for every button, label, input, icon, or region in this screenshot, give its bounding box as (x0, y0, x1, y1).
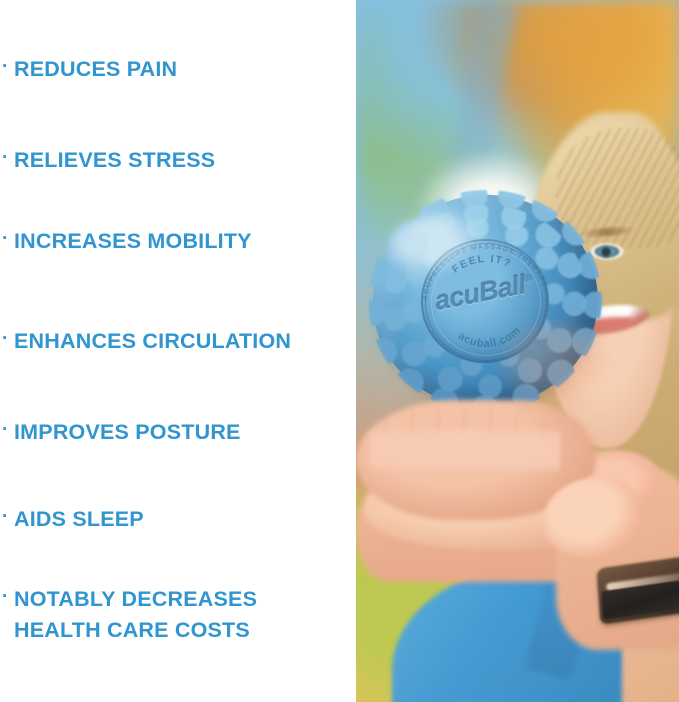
benefit-item-reduces-pain: · REDUCES PAIN (2, 54, 354, 85)
eye-pupil (600, 246, 612, 258)
benefits-list: · REDUCES PAIN · RELIEVES STRESS · INCRE… (0, 0, 356, 702)
benefit-label: RELIEVES STRESS (14, 145, 354, 176)
bullet-icon: · (2, 226, 14, 253)
bullet-icon: · (2, 417, 14, 444)
benefit-label: NOTABLY DECREASES HEALTH CARE COSTS (14, 584, 354, 645)
benefit-label: INCREASES MOBILITY (14, 226, 354, 257)
advertisement-page: · REDUCES PAIN · RELIEVES STRESS · INCRE… (0, 0, 679, 702)
benefit-item-enhances-circulation: · ENHANCES CIRCULATION (2, 326, 354, 357)
benefit-item-relieves-stress: · RELIEVES STRESS (2, 145, 354, 176)
acuball-product: ACUPRESSURE MASSAGE THERAPY FEEL IT? acu… (362, 184, 608, 421)
benefit-item-improves-posture: · IMPROVES POSTURE (2, 417, 354, 448)
bullet-icon: · (2, 145, 14, 172)
bullet-icon: · (2, 326, 14, 353)
bullet-icon: · (2, 54, 14, 81)
bullet-icon: · (2, 584, 14, 611)
acuball-trademark: ® (523, 273, 533, 286)
benefit-label: REDUCES PAIN (14, 54, 354, 85)
benefit-item-notably-decreases-health-care-costs: · NOTABLY DECREASES HEALTH CARE COSTS (2, 584, 354, 645)
benefit-label: ENHANCES CIRCULATION (14, 326, 354, 357)
fingertips (370, 426, 560, 474)
benefit-label: IMPROVES POSTURE (14, 417, 354, 448)
bullet-icon: · (2, 504, 14, 531)
benefit-item-aids-sleep: · AIDS SLEEP (2, 504, 354, 535)
benefit-item-increases-mobility: · INCREASES MOBILITY (2, 226, 354, 257)
benefit-label: AIDS SLEEP (14, 504, 354, 535)
product-photo: ACUPRESSURE MASSAGE THERAPY FEEL IT? acu… (356, 0, 679, 702)
